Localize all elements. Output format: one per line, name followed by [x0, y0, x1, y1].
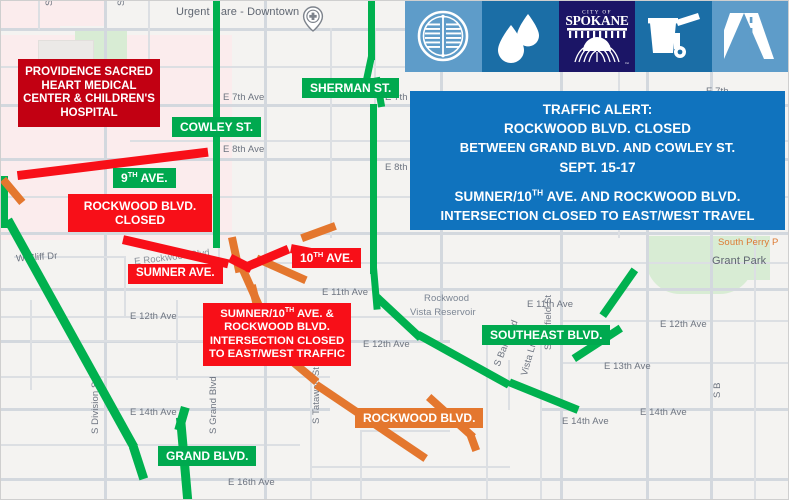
callout-intersection-l1: SUMNER/10TH AVE. &	[207, 308, 347, 321]
callout-intersection-l1sup: TH	[285, 307, 294, 314]
route-southeast-blvd-green	[599, 268, 638, 318]
callout-9th-ave-sup: TH	[128, 170, 138, 179]
alert-line-4b: AVE. AND ROCKWOOD BLVD.	[543, 189, 740, 204]
route-grand-blvd-green	[4, 218, 138, 450]
callout-intersection-l3: INTERSECTION CLOSED	[207, 335, 347, 348]
iconcell-water	[482, 0, 559, 72]
callout-intersection-closed: SUMNER/10TH AVE. & ROCKWOOD BLVD. INTERS…	[203, 303, 351, 366]
callout-10th-ave-num: 10	[300, 251, 313, 265]
map-canvas: S Brown St S Div Urgent Care - Downtown …	[0, 0, 789, 500]
callout-rockwood-closed-l1: ROCKWOOD BLVD.	[72, 199, 208, 213]
map-street-v	[264, 0, 267, 500]
map-street-v	[330, 28, 332, 238]
map-label-street: E 14th Ave	[130, 407, 177, 418]
map-label-street: E 7th Ave	[223, 92, 264, 103]
callout-sherman-st: SHERMAN ST.	[302, 78, 399, 98]
route-sherman-st-green	[368, 0, 375, 60]
map-street-h	[30, 340, 210, 342]
svg-text:™: ™	[625, 61, 629, 66]
map-street-h	[0, 376, 330, 378]
map-street-h	[0, 478, 789, 481]
map-street-v	[38, 0, 40, 30]
route-rockwood-blvd-orange	[467, 434, 480, 452]
map-street-h	[360, 430, 450, 432]
map-street-h	[0, 232, 789, 235]
map-label-street: E 13th Ave	[604, 361, 651, 372]
alert-line-3: SEPT. 15-17	[416, 158, 779, 177]
map-label-street: S Div	[116, 0, 127, 6]
map-label-street: E 12th Ave	[363, 339, 410, 350]
route-sherman-st-green	[370, 104, 377, 274]
traffic-alert-map-graphic: S Brown St S Div Urgent Care - Downtown …	[0, 0, 789, 500]
map-label-street: S Brown St	[44, 0, 55, 6]
callout-rockwood-closed: ROCKWOOD BLVD. CLOSED	[68, 194, 212, 232]
map-label-street: E 11th Ave	[322, 287, 368, 298]
map-label-street: S B	[712, 382, 723, 398]
callout-southeast-blvd: SOUTHEAST BLVD.	[482, 325, 610, 345]
callout-intersection-l2: ROCKWOOD BLVD.	[207, 321, 347, 334]
callout-10th-ave-sup: TH	[313, 250, 323, 259]
iconcell-solid-waste	[635, 0, 712, 72]
map-street-v	[540, 330, 542, 500]
alert-line-4-sup: TH	[532, 188, 543, 198]
map-label-street: E 12th Ave	[130, 311, 177, 322]
callout-rockwood-blvd: ROCKWOOD BLVD.	[355, 408, 483, 428]
callout-rockwood-closed-l2: CLOSED	[72, 213, 208, 227]
callout-10th-ave-suffix: AVE.	[323, 251, 353, 265]
spokane-city-logo-icon: CITY OF SPOKANE ™	[561, 5, 633, 67]
map-label-street: E 14th Ave	[640, 407, 687, 418]
callout-9th-ave: 9TH AVE.	[113, 168, 176, 188]
map-label-street: S Grand Blvd	[208, 376, 219, 434]
callout-cowley-st: COWLEY ST.	[172, 117, 261, 137]
map-label-grant-park: Grant Park	[712, 255, 766, 267]
water-drops-icon	[492, 9, 548, 63]
map-street-v	[30, 300, 32, 390]
callout-grand-blvd: GRAND BLVD.	[158, 446, 256, 466]
callout-intersection-l1a: SUMNER/10	[220, 308, 285, 320]
garbage-truck-icon	[646, 11, 702, 61]
map-street-v	[646, 0, 649, 500]
map-street-v	[754, 236, 756, 500]
map-street-v	[360, 430, 362, 500]
map-label-reservoir: Vista Reservoir	[410, 307, 476, 318]
manhole-cover-icon	[416, 9, 470, 63]
map-area-pink	[48, 0, 106, 26]
map-street-v	[486, 340, 488, 500]
callout-intersection-l1b: AVE. &	[294, 308, 334, 320]
map-label-urgent-care: Urgent Care - Downtown	[176, 6, 299, 18]
map-label-street: E 8th Ave	[223, 144, 264, 155]
map-label-street: E 16th Ave	[228, 477, 275, 488]
callout-sumner-ave: SUMNER AVE.	[128, 264, 223, 284]
alert-line-2: BETWEEN GRAND BLVD. AND COWLEY ST.	[416, 139, 779, 158]
city-department-icon-bar: CITY OF SPOKANE ™	[405, 0, 789, 72]
callout-intersection-l4: TO EAST/WEST TRAFFIC	[207, 348, 347, 361]
callout-hospital: PROVIDENCE SACRED HEART MEDICAL CENTER &…	[18, 59, 160, 127]
alert-line-4: SUMNER/10TH AVE. AND ROCKWOOD BLVD.	[416, 187, 779, 206]
hospital-poi-icon	[302, 6, 324, 32]
callout-9th-ave-num: 9	[121, 171, 128, 185]
callout-10th-ave: 10TH AVE.	[292, 248, 361, 268]
map-street-h	[310, 466, 510, 468]
iconcell-streets	[712, 0, 789, 72]
alert-spacer	[416, 177, 779, 187]
map-street-v	[710, 0, 713, 500]
map-label-street: E 14th Ave	[562, 416, 609, 427]
map-label-street: E 8th	[385, 162, 408, 173]
map-street-h	[0, 288, 789, 291]
alert-line-1: ROCKWOOD BLVD. CLOSED	[416, 119, 779, 138]
alert-line-5: INTERSECTION CLOSED TO EAST/WEST TRAVEL	[416, 207, 779, 226]
callout-9th-ave-suffix: AVE.	[138, 171, 168, 185]
map-label-reservoir: Rockwood	[424, 293, 469, 304]
iconcell-spokane-logo: CITY OF SPOKANE ™	[559, 0, 636, 72]
map-label-south-perry: South Perry P	[718, 237, 778, 248]
road-icon	[724, 11, 778, 61]
route-grand-blvd-green	[129, 445, 148, 480]
alert-title: TRAFFIC ALERT:	[416, 100, 779, 119]
iconcell-wastewater	[405, 0, 482, 72]
svg-text:SPOKANE: SPOKANE	[565, 13, 629, 28]
map-label-street: Vista Ln	[519, 340, 539, 377]
map-label-street: E 12th Ave	[660, 319, 707, 330]
map-street-v	[124, 256, 126, 316]
alert-line-4a: SUMNER/10	[454, 189, 532, 204]
traffic-alert-box: TRAFFIC ALERT: ROCKWOOD BLVD. CLOSED BET…	[410, 91, 785, 230]
